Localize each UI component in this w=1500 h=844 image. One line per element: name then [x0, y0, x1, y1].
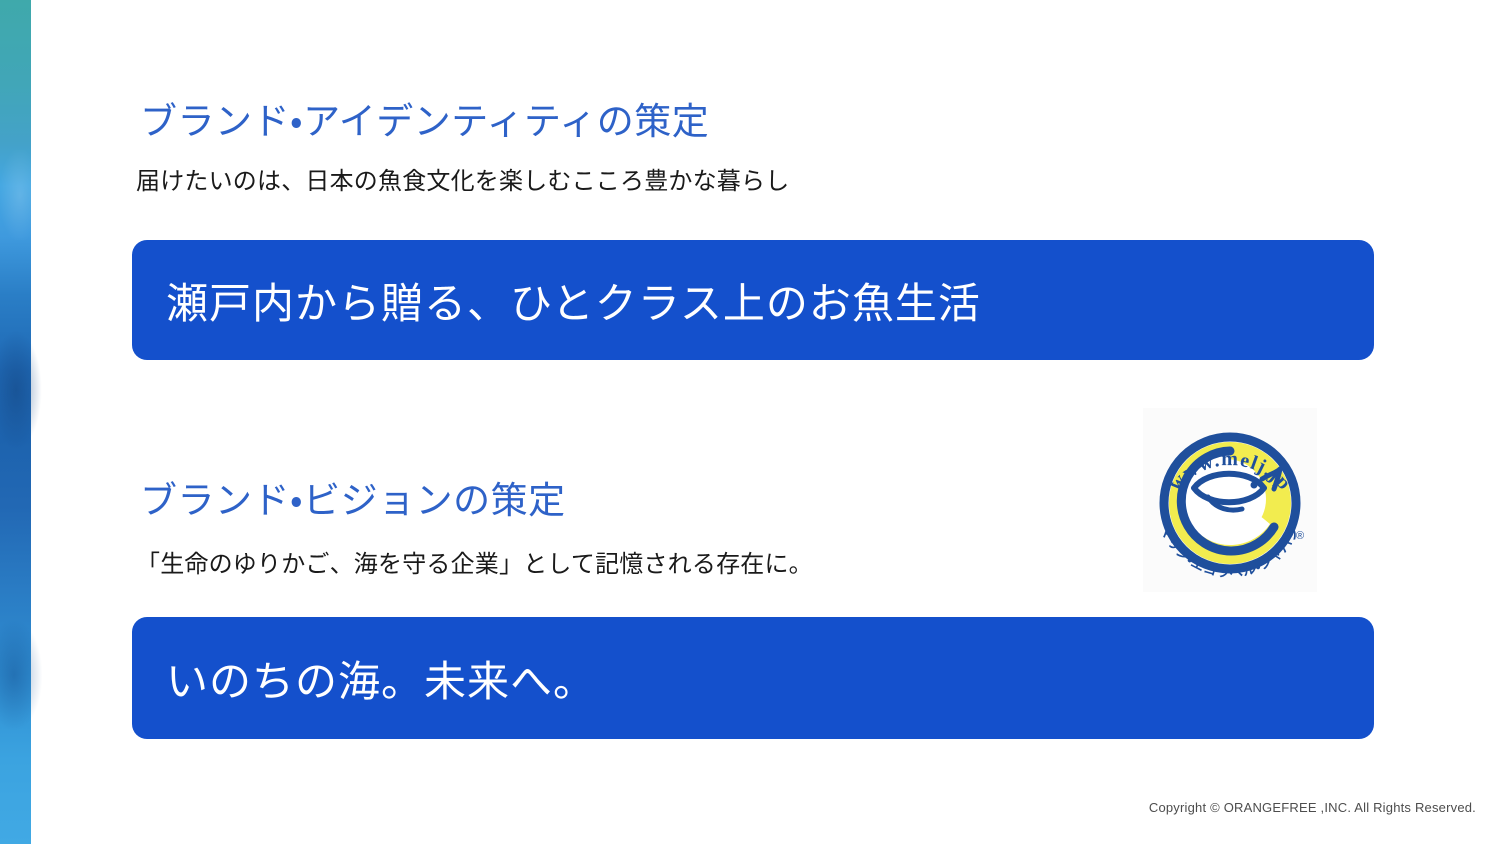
- ocean-photo-strip: [0, 0, 31, 844]
- mel-japan-logo-graphic: www.melj.jp マリン・エコラベル・ジャパン ®: [1146, 411, 1314, 589]
- footer-copyright: Copyright © ORANGEFREE ,INC. All Rights …: [1149, 800, 1476, 815]
- section-heading-identity: ブランド・アイデンティティの策定: [140, 100, 709, 144]
- mel-japan-eco-label-logo: www.melj.jp マリン・エコラベル・ジャパン ®: [1143, 408, 1317, 592]
- logo-fish-eye: [1251, 482, 1258, 489]
- section-subtitle-identity: 届けたいのは、日本の魚食文化を楽しむこころ豊かな暮らし: [136, 166, 789, 197]
- section-subtitle-vision: 「生命のゆりかご、海を守る企業」として記憶される存在に。: [136, 549, 813, 580]
- strip-shadow-lower: [0, 620, 42, 730]
- statement-text-vision: いのちの海。未来へ。: [166, 648, 596, 709]
- strip-shadow-upper: [0, 330, 42, 450]
- statement-bar-vision: いのちの海。未来へ。: [132, 617, 1374, 739]
- section-heading-vision: ブランド・ビジョンの策定: [140, 479, 566, 523]
- statement-bar-identity: 瀬戸内から贈る、ひとクラス上のお魚生活: [132, 240, 1374, 360]
- statement-text-identity: 瀬戸内から贈る、ひとクラス上のお魚生活: [166, 270, 981, 331]
- logo-registered-mark: ®: [1296, 530, 1304, 542]
- slide-canvas: ブランド・アイデンティティの策定 届けたいのは、日本の魚食文化を楽しむこころ豊か…: [0, 0, 1500, 844]
- strip-highlight: [0, 150, 40, 240]
